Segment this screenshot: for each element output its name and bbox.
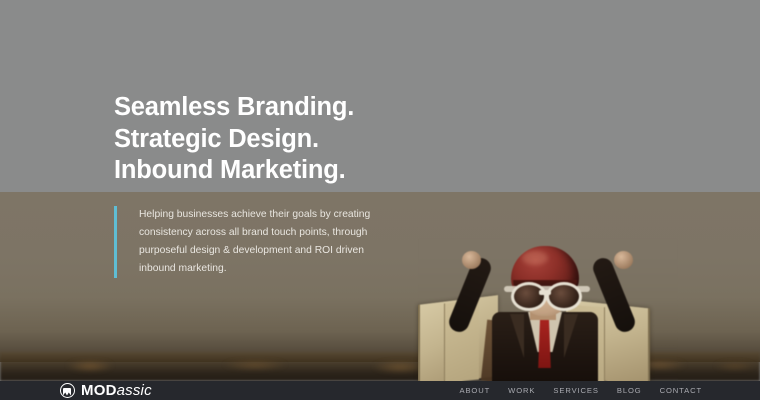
hero-background-photo xyxy=(0,0,760,381)
suit-lapel-left xyxy=(510,314,524,358)
modassic-circle-icon xyxy=(60,383,75,398)
hero-page: Seamless Branding. Strategic Design. Inb… xyxy=(0,0,760,400)
nav-item-about[interactable]: ABOUT xyxy=(459,386,490,395)
footer-nav: ABOUT WORK SERVICES BLOG CONTACT xyxy=(459,386,702,395)
goggle-lens-right xyxy=(546,282,582,311)
hero-copy: Seamless Branding. Strategic Design. Inb… xyxy=(114,92,444,187)
child-aviator-figure xyxy=(418,238,678,381)
headline-line-3: Inbound Marketing. xyxy=(114,155,444,187)
helmet-highlight xyxy=(522,251,548,265)
goggles-bridge xyxy=(539,290,551,295)
hero-subtext: Helping businesses achieve their goals b… xyxy=(139,206,382,278)
fist-left xyxy=(462,251,481,269)
hero-subtext-block: Helping businesses achieve their goals b… xyxy=(114,206,382,278)
nav-item-contact[interactable]: CONTACT xyxy=(660,386,702,395)
brand-name: MODassic xyxy=(81,383,152,398)
headline-line-1: Seamless Branding. xyxy=(114,92,444,124)
site-footer-bar: MODassic ABOUT WORK SERVICES BLOG CONTAC… xyxy=(0,381,760,400)
nav-item-work[interactable]: WORK xyxy=(508,386,535,395)
brand-name-italic: assic xyxy=(117,382,152,399)
nav-item-blog[interactable]: BLOG xyxy=(617,386,642,395)
brand-name-bold: MOD xyxy=(81,382,117,399)
brand-logo[interactable]: MODassic xyxy=(60,383,152,398)
fist-right xyxy=(614,251,633,269)
page-title: Seamless Branding. Strategic Design. Inb… xyxy=(114,92,444,187)
suit-lapel-right xyxy=(564,314,578,358)
nav-item-services[interactable]: SERVICES xyxy=(553,386,598,395)
goggle-lens-left xyxy=(511,282,547,311)
headline-line-2: Strategic Design. xyxy=(114,124,444,156)
